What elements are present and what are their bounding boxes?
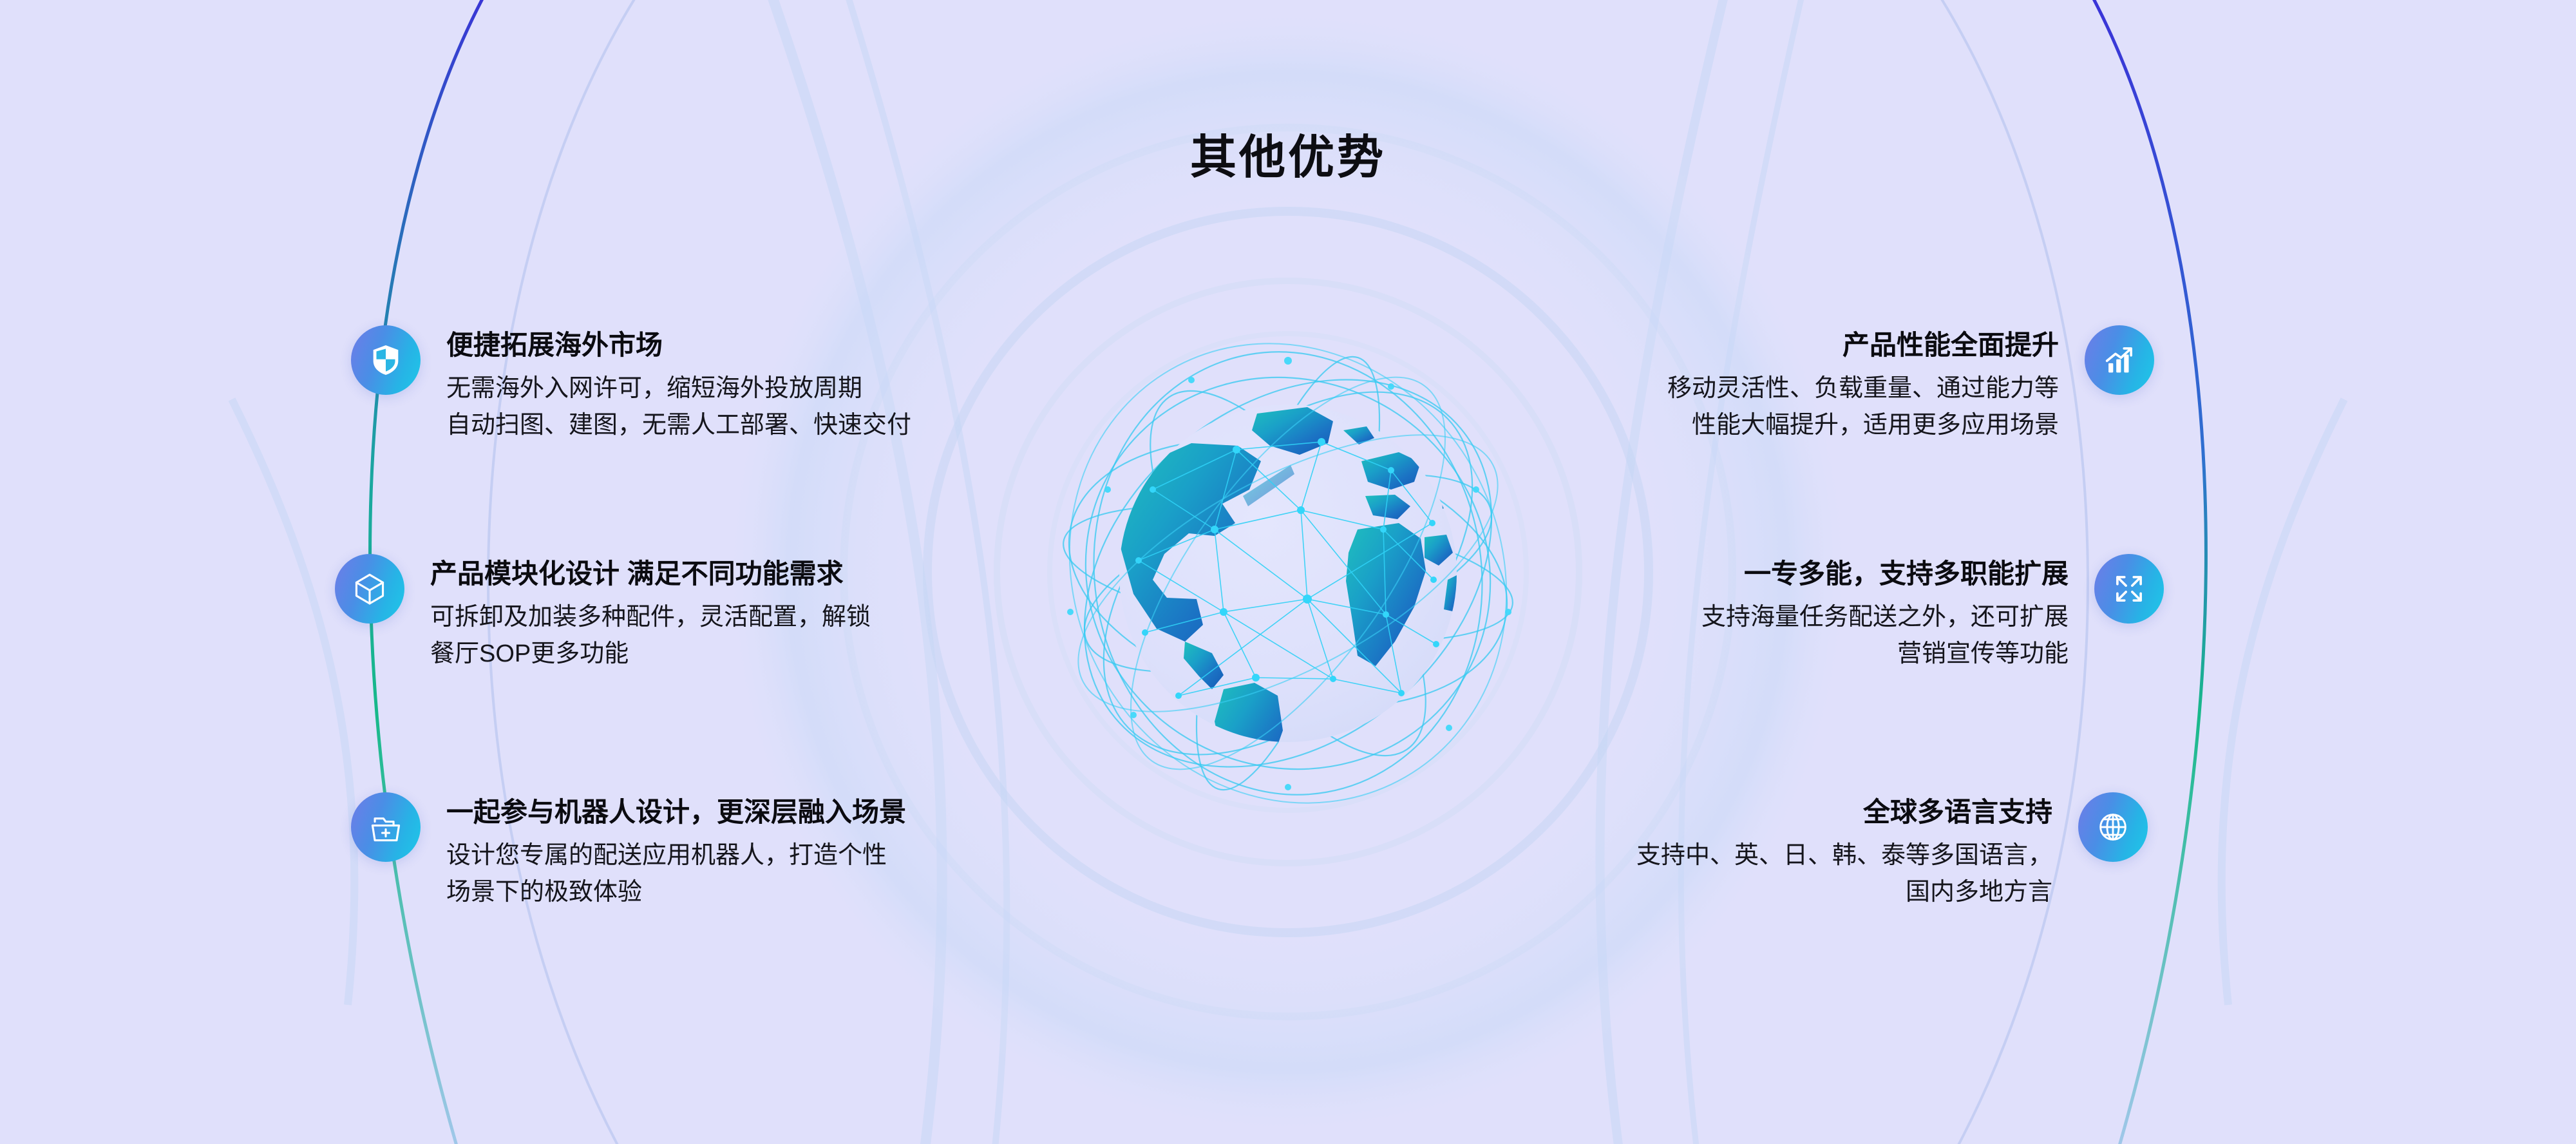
feature-text-left-2: 产品模块化设计 满足不同功能需求 可拆卸及加装多种配件，灵活配置，解锁 餐厅SO… bbox=[430, 554, 871, 673]
page-title: 其他优势 bbox=[0, 119, 2576, 187]
cube-icon bbox=[335, 554, 404, 624]
feature-line: 性能大幅提升，适用更多应用场景 bbox=[1667, 407, 2059, 444]
expand-arrows-icon bbox=[2094, 554, 2164, 624]
growth-chart-icon bbox=[2085, 325, 2154, 395]
feature-line: 餐厅SOP更多功能 bbox=[430, 636, 871, 673]
feature-item-right-3[interactable]: 全球多语言支持 支持中、英、日、韩、泰等多国语言， 国内多地方言 bbox=[1636, 792, 2148, 911]
shield-icon bbox=[351, 325, 421, 395]
feature-line: 无需海外入网许可，缩短海外投放周期 bbox=[446, 370, 911, 408]
feature-line: 营销宣传等功能 bbox=[1701, 636, 2069, 673]
feature-line: 可拆卸及加装多种配件，灵活配置，解锁 bbox=[430, 599, 871, 636]
feature-item-right-1[interactable]: 产品性能全面提升 移动灵活性、负载重量、通过能力等 性能大幅提升，适用更多应用场… bbox=[1667, 325, 2154, 444]
feature-heading: 全球多语言支持 bbox=[1636, 796, 2052, 828]
feature-line: 自动扫图、建图，无需人工部署、快速交付 bbox=[446, 407, 911, 444]
feature-item-left-1[interactable]: 便捷拓展海外市场 无需海外入网许可，缩短海外投放周期 自动扫图、建图，无需人工部… bbox=[351, 325, 911, 444]
feature-text-right-2: 一专多能，支持多职能扩展 支持海量任务配送之外，还可扩展 营销宣传等功能 bbox=[1701, 554, 2069, 673]
feature-heading: 产品性能全面提升 bbox=[1667, 329, 2059, 361]
feature-line: 移动灵活性、负载重量、通过能力等 bbox=[1667, 370, 2059, 408]
feature-heading: 产品模块化设计 满足不同功能需求 bbox=[430, 558, 871, 590]
feature-item-left-2[interactable]: 产品模块化设计 满足不同功能需求 可拆卸及加装多种配件，灵活配置，解锁 餐厅SO… bbox=[335, 554, 871, 673]
feature-heading: 一起参与机器人设计，更深层融入场景 bbox=[446, 796, 906, 828]
feature-item-right-2[interactable]: 一专多能，支持多职能扩展 支持海量任务配送之外，还可扩展 营销宣传等功能 bbox=[1701, 554, 2164, 673]
feature-text-left-1: 便捷拓展海外市场 无需海外入网许可，缩短海外投放周期 自动扫图、建图，无需人工部… bbox=[446, 325, 911, 444]
infographic-root: 其他优势 便捷拓展海外市场 无需海外入网许可，缩短海外投放周期 自动扫图、建图，… bbox=[0, 0, 2576, 1144]
feature-text-left-3: 一起参与机器人设计，更深层融入场景 设计您专属的配送应用机器人，打造个性 场景下… bbox=[446, 792, 906, 911]
feature-item-left-3[interactable]: 一起参与机器人设计，更深层融入场景 设计您专属的配送应用机器人，打造个性 场景下… bbox=[351, 792, 906, 911]
network-globe-illustration bbox=[1030, 277, 1546, 870]
feature-text-right-3: 全球多语言支持 支持中、英、日、韩、泰等多国语言， 国内多地方言 bbox=[1636, 792, 2052, 911]
globe-icon bbox=[2078, 792, 2148, 862]
feature-line: 设计您专属的配送应用机器人，打造个性 bbox=[446, 837, 906, 875]
feature-text-right-1: 产品性能全面提升 移动灵活性、负载重量、通过能力等 性能大幅提升，适用更多应用场… bbox=[1667, 325, 2059, 444]
feature-line: 国内多地方言 bbox=[1636, 874, 2052, 911]
feature-line: 场景下的极致体验 bbox=[446, 874, 906, 911]
feature-heading: 便捷拓展海外市场 bbox=[446, 329, 911, 361]
feature-line: 支持中、英、日、韩、泰等多国语言， bbox=[1636, 837, 2052, 875]
feature-heading: 一专多能，支持多职能扩展 bbox=[1701, 558, 2069, 590]
feature-line: 支持海量任务配送之外，还可扩展 bbox=[1701, 599, 2069, 636]
folder-add-icon bbox=[351, 792, 421, 862]
